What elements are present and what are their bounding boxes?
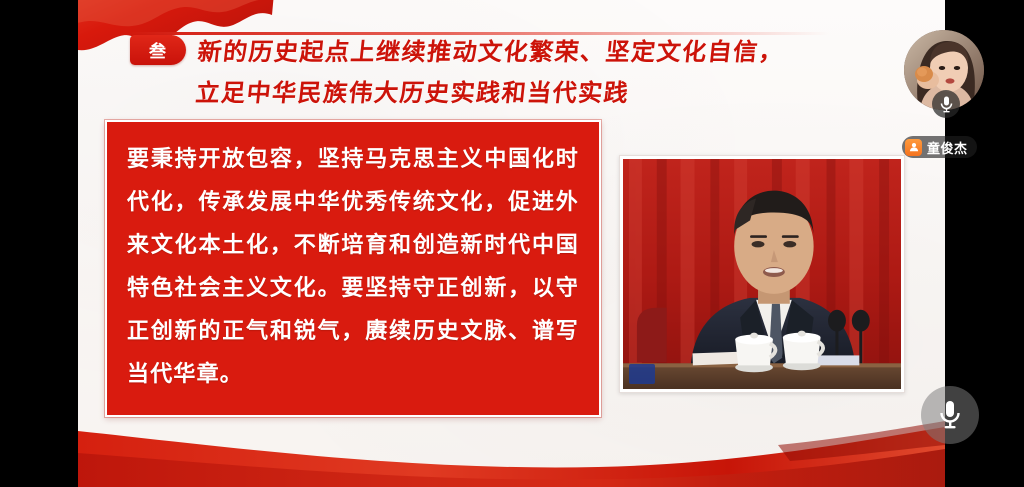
participant-name-tag: 童俊杰	[902, 136, 977, 158]
speaker-photo	[619, 155, 905, 393]
section-number-badge: 叁	[130, 35, 186, 65]
presentation-slide: 叁 新的历史起点上继续推动文化繁荣、坚定文化自信， 立足中华民族伟大历史实践和当…	[78, 0, 945, 487]
microphone-icon[interactable]	[932, 90, 960, 118]
photo-watermark	[629, 364, 655, 384]
quote-text: 要秉持开放包容，坚持马克思主义中国化时代化，传承发展中华优秀传统文化，促进外来文…	[127, 138, 579, 396]
quote-box: 要秉持开放包容，坚持马克思主义中国化时代化，传承发展中华优秀传统文化，促进外来文…	[105, 120, 601, 417]
slide-title: 叁 新的历史起点上继续推动文化繁荣、坚定文化自信， 立足中华民族伟大历史实践和当…	[78, 32, 945, 108]
meeting-screen: 叁 新的历史起点上继续推动文化繁荣、坚定文化自信， 立足中华民族伟大历史实践和当…	[0, 0, 1024, 487]
participant-name: 童俊杰	[927, 138, 968, 157]
ribbon-decoration-bottom	[78, 409, 945, 487]
letterbox-left	[0, 0, 78, 487]
title-line-2: 立足中华民族伟大历史实践和当代实践	[194, 73, 945, 108]
participant-video-tile[interactable]: 童俊杰	[898, 28, 990, 148]
title-line-1: 新的历史起点上继续推动文化繁荣、坚定文化自信，	[196, 32, 786, 67]
person-icon	[905, 139, 922, 156]
floating-microphone-button[interactable]	[921, 386, 979, 444]
